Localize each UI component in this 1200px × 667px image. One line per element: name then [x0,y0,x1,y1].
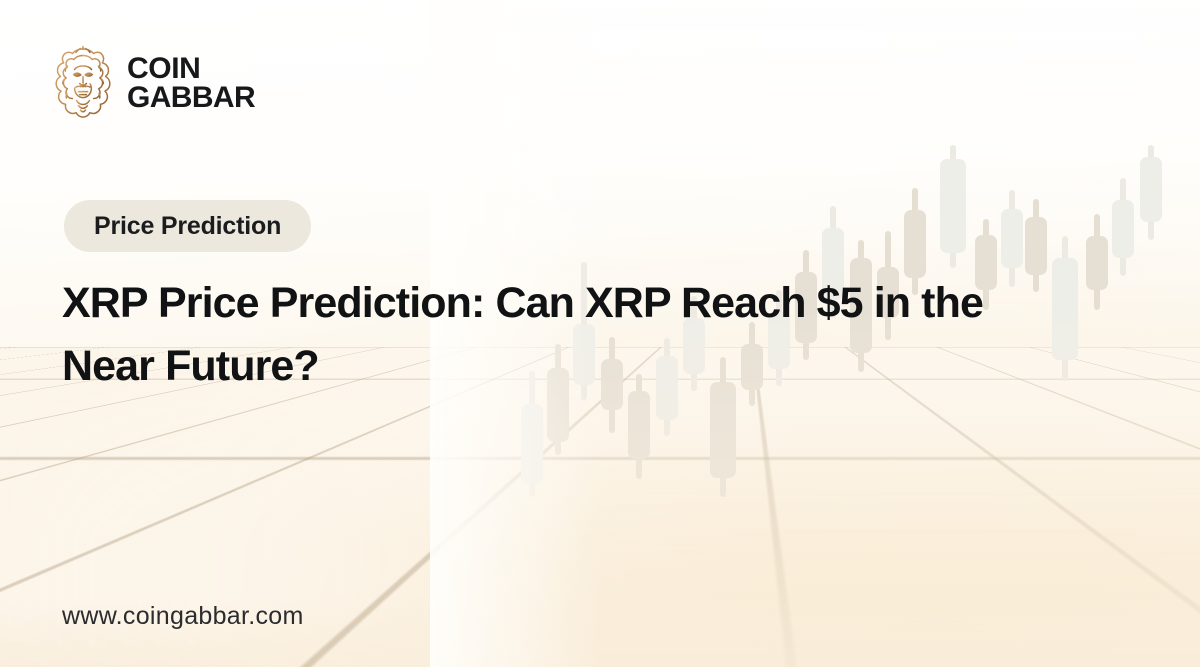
candlestick-body [521,404,543,484]
candlestick-body [628,391,650,459]
candlestick-body [1001,209,1023,268]
candlestick-body [904,210,926,278]
candlestick-wick [1120,178,1126,276]
site-url: www.coingabbar.com [62,602,304,631]
candlestick-wick [950,145,956,268]
candlestick [1112,178,1134,276]
brand-wordmark: COIN GABBAR [127,54,255,113]
price-prediction-banner: COIN GABBAR Price Prediction XRP Price P… [0,0,1200,667]
brand-name-line2: GABBAR [127,83,255,112]
candlestick [1086,214,1108,310]
candlestick-body [1025,217,1047,275]
category-badge[interactable]: Price Prediction [64,200,311,252]
lion-head-icon [52,44,114,122]
candlestick-body [1086,236,1108,290]
candlestick-body [1140,157,1162,222]
brand-logo[interactable]: COIN GABBAR [52,44,255,122]
candlestick [1140,145,1162,240]
candlestick-body [1112,200,1134,258]
candlestick [940,145,966,268]
candlestick-body [940,159,966,253]
page-title: XRP Price Prediction: Can XRP Reach $5 i… [62,272,1072,398]
brand-name-line1: COIN [127,54,255,83]
category-badge-label: Price Prediction [94,212,281,241]
candlestick-wick [1094,214,1100,310]
candlestick-wick [1148,145,1154,240]
